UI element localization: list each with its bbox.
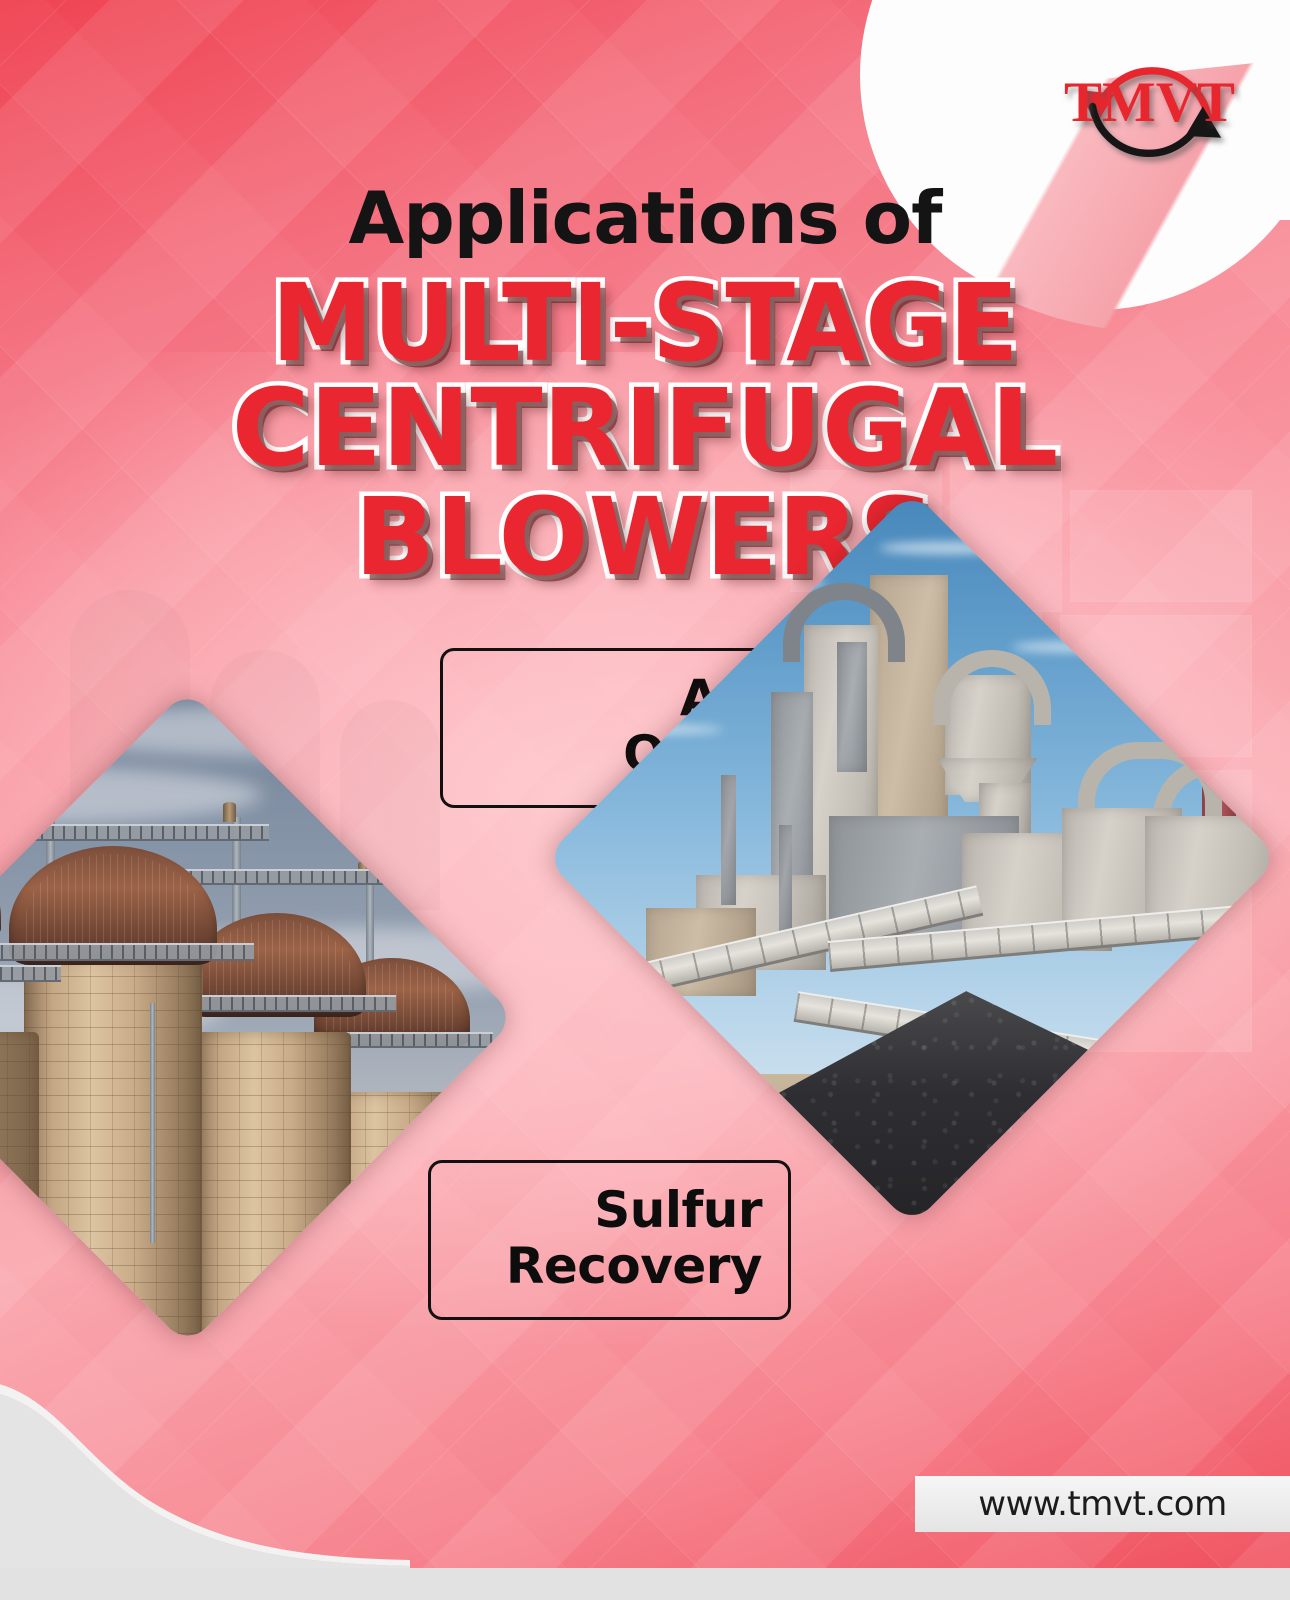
label-sulfur-line-2: Recovery — [506, 1238, 762, 1294]
label-sulfur-recovery: Sulfur Recovery — [428, 1160, 791, 1320]
footer-wave-shape — [0, 1350, 410, 1570]
website-url-text: www.tmvt.com — [978, 1484, 1226, 1524]
label-sulfur-line-1: Sulfur — [506, 1182, 762, 1238]
website-url-bar[interactable]: www.tmvt.com — [915, 1476, 1290, 1532]
title-line-1: MULTI-STAGE — [0, 270, 1290, 379]
tmvt-logo[interactable]: TMVT — [1057, 22, 1242, 192]
title-eyebrow: Applications of — [0, 182, 1290, 254]
title-block: Applications of MULTI-STAGE CENTRIFUGAL … — [0, 182, 1290, 593]
footer-strip — [0, 1568, 1290, 1600]
title-line-2: CENTRIFUGAL BLOWERS — [0, 375, 1290, 593]
logo-wordmark: TMVT — [1064, 71, 1235, 134]
poster-canvas: TMVT Applications of MULTI-STAGE CENTRIF… — [0, 0, 1290, 1600]
